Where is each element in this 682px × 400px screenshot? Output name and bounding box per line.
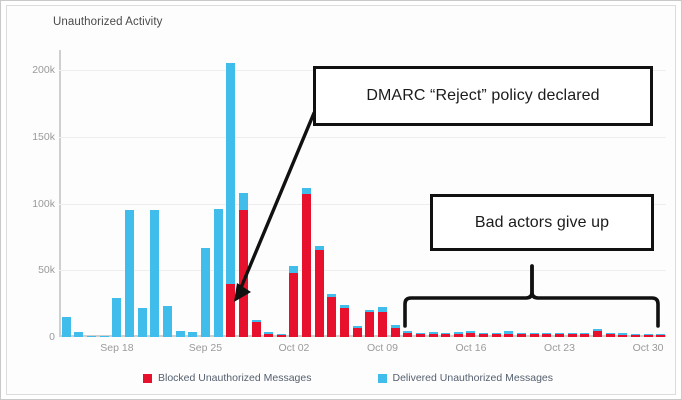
bar-segment-blocked	[252, 322, 261, 337]
bar-segment-delivered	[441, 333, 450, 334]
bar-segment-blocked	[656, 335, 665, 337]
gridline	[59, 137, 666, 138]
annotation-badactors-text: Bad actors give up	[475, 214, 609, 232]
bar-segment-delivered	[580, 333, 589, 334]
bar-segment-blocked	[289, 273, 298, 337]
bar-segment-delivered	[593, 329, 602, 331]
bar-segment-delivered	[340, 305, 349, 308]
bar-segment-delivered	[403, 331, 412, 333]
bar-segment-blocked	[517, 334, 526, 337]
legend-item[interactable]: Blocked Unauthorized Messages	[143, 372, 312, 384]
legend-label: Delivered Unauthorized Messages	[393, 372, 554, 384]
bar-segment-blocked	[631, 335, 640, 337]
bar-segment-blocked	[264, 334, 273, 337]
bar-segment-delivered	[542, 333, 551, 334]
y-axis-line	[59, 50, 61, 337]
legend-label: Blocked Unauthorized Messages	[158, 372, 312, 384]
x-axis-tick-label: Oct 16	[456, 342, 487, 354]
bar-segment-delivered	[87, 336, 96, 337]
bar-segment-delivered	[644, 334, 653, 335]
x-axis-tick-label: Oct 23	[544, 342, 575, 354]
bar-segment-delivered	[214, 209, 223, 337]
bar-segment-delivered	[74, 332, 83, 337]
bar-segment-delivered	[125, 210, 134, 337]
bar-segment-delivered	[466, 331, 475, 333]
bar-segment-blocked	[580, 334, 589, 337]
bar-segment-blocked	[466, 333, 475, 337]
bar-segment-blocked	[416, 334, 425, 337]
bar-segment-blocked	[593, 331, 602, 337]
bar-segment-blocked	[479, 334, 488, 337]
bar-segment-delivered	[530, 333, 539, 334]
bar-segment-delivered	[504, 331, 513, 333]
chart-card: Unauthorized Activity 050k100k150k200k S…	[6, 5, 676, 395]
bar-segment-delivered	[302, 188, 311, 195]
x-axis-tick-label: Oct 02	[278, 342, 309, 354]
bar-segment-blocked	[302, 194, 311, 337]
bar-segment-blocked	[327, 297, 336, 337]
bar-segment-blocked	[644, 335, 653, 337]
bar-segment-delivered	[163, 306, 172, 337]
bar-segment-delivered	[226, 63, 235, 283]
bar-segment-delivered	[327, 294, 336, 297]
bar-segment-blocked	[429, 334, 438, 337]
bar-segment-delivered	[289, 266, 298, 273]
y-axis-tick-label: 0	[49, 331, 55, 343]
bar-segment-delivered	[479, 333, 488, 334]
bar-segment-blocked	[277, 335, 286, 337]
bar-segment-delivered	[201, 248, 210, 337]
bar-segment-delivered	[150, 210, 159, 337]
x-axis-tick-label: Oct 30	[633, 342, 664, 354]
chart-title: Unauthorized Activity	[53, 16, 163, 28]
chart-legend: Blocked Unauthorized MessagesDelivered U…	[7, 372, 682, 384]
bar-segment-blocked	[391, 328, 400, 337]
bar-segment-delivered	[353, 326, 362, 327]
bar-segment-blocked	[454, 334, 463, 337]
annotation-badactors-box: Bad actors give up	[430, 194, 654, 251]
bar-segment-delivered	[391, 325, 400, 327]
x-axis-tick-label: Sep 18	[100, 342, 133, 354]
bar-segment-delivered	[100, 336, 109, 337]
bar-segment-blocked	[618, 335, 627, 337]
bar-segment-delivered	[606, 333, 615, 334]
y-axis-tick-label: 100k	[32, 198, 55, 210]
bar-segment-delivered	[239, 193, 248, 210]
bar-segment-blocked	[492, 334, 501, 337]
chart-screenshot: Unauthorized Activity 050k100k150k200k S…	[0, 0, 682, 400]
annotation-dmarc-text: DMARC “Reject” policy declared	[366, 87, 599, 105]
bar-segment-delivered	[568, 333, 577, 334]
y-axis-tick-label: 200k	[32, 64, 55, 76]
bar-segment-delivered	[188, 332, 197, 337]
bar-segment-delivered	[365, 310, 374, 312]
bar-segment-blocked	[606, 334, 615, 337]
bar-segment-delivered	[618, 333, 627, 334]
bar-segment-delivered	[138, 308, 147, 337]
y-axis-labels: 050k100k150k200k	[7, 50, 55, 337]
bar-segment-blocked	[315, 250, 324, 337]
y-axis-tick-label: 50k	[38, 264, 55, 276]
bar-segment-delivered	[264, 332, 273, 334]
legend-item[interactable]: Delivered Unauthorized Messages	[378, 372, 554, 384]
bar-segment-blocked	[542, 334, 551, 337]
bar-segment-delivered	[656, 334, 665, 335]
bar-segment-delivered	[454, 332, 463, 333]
bar-segment-delivered	[378, 307, 387, 312]
bar-segment-blocked	[365, 312, 374, 337]
x-axis-tick-label: Oct 09	[367, 342, 398, 354]
bar-segment-delivered	[416, 333, 425, 334]
bar-segment-blocked	[378, 312, 387, 337]
legend-swatch-icon	[378, 374, 387, 383]
y-axis-tick-label: 150k	[32, 131, 55, 143]
bar-segment-blocked	[340, 308, 349, 337]
bar-segment-delivered	[555, 333, 564, 334]
bar-segment-blocked	[530, 334, 539, 337]
bar-segment-delivered	[277, 334, 286, 335]
bar-segment-blocked	[353, 328, 362, 337]
bar-segment-delivered	[492, 333, 501, 334]
bar-segment-blocked	[568, 334, 577, 337]
bar-segment-delivered	[176, 331, 185, 337]
bar-segment-delivered	[252, 320, 261, 323]
bar-segment-delivered	[517, 333, 526, 334]
bar-segment-delivered	[315, 246, 324, 251]
bar-segment-blocked	[239, 210, 248, 337]
bar-segment-delivered	[631, 334, 640, 335]
x-axis-tick-label: Sep 25	[189, 342, 222, 354]
annotation-dmarc-box: DMARC “Reject” policy declared	[313, 66, 653, 126]
bar-segment-blocked	[504, 334, 513, 337]
bar-segment-blocked	[441, 334, 450, 337]
bar-segment-delivered	[429, 332, 438, 334]
bar-segment-delivered	[112, 298, 121, 337]
bar-segment-blocked	[403, 333, 412, 337]
bar-segment-blocked	[226, 284, 235, 337]
bar-segment-blocked	[555, 334, 564, 337]
legend-swatch-icon	[143, 374, 152, 383]
bar-segment-delivered	[62, 317, 71, 337]
